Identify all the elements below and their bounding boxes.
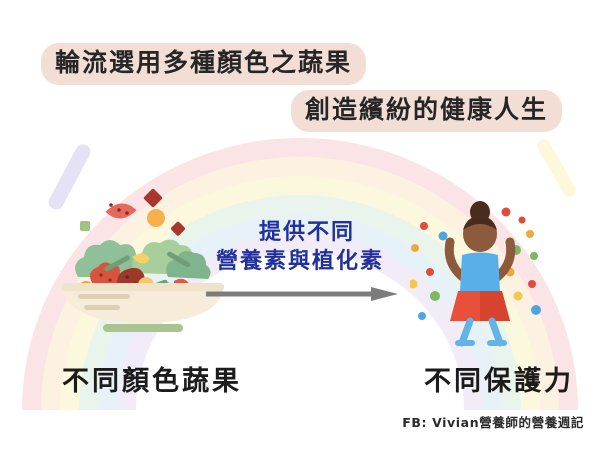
label-left: 不同顏色蔬果: [62, 359, 242, 398]
top: [460, 253, 500, 292]
red-diamond-icon-1: [143, 188, 163, 208]
right-leg: [492, 321, 500, 343]
illustration-canvas: 提供不同 營養素與植化素 不同顏色蔬果 不同保護力 FB: Vivian營養師的…: [0, 0, 600, 450]
caption-bubble-2: 創造繽紛的健康人生: [291, 90, 562, 132]
orange-circle-icon: [147, 209, 165, 227]
credit-text: FB: Vivian營養師的營養週記: [402, 412, 584, 431]
green-square-icon: [80, 221, 90, 231]
person-body: [449, 201, 510, 343]
floating-food-pieces: [80, 188, 186, 236]
red-diamond-icon-2: [170, 221, 186, 237]
watermelon-slice-icon: [104, 199, 137, 223]
bowl-shape: [62, 283, 224, 332]
right-arrow-icon: [206, 287, 398, 301]
caption-bubble-1: 輪流選用多種顏色之蔬果: [41, 43, 366, 85]
bowl-base: [103, 324, 183, 332]
celebrating-person-illustration: [410, 192, 550, 347]
left-leg: [462, 321, 470, 343]
salad-bowl-illustration: [48, 185, 238, 335]
label-right: 不同保護力: [424, 359, 574, 398]
